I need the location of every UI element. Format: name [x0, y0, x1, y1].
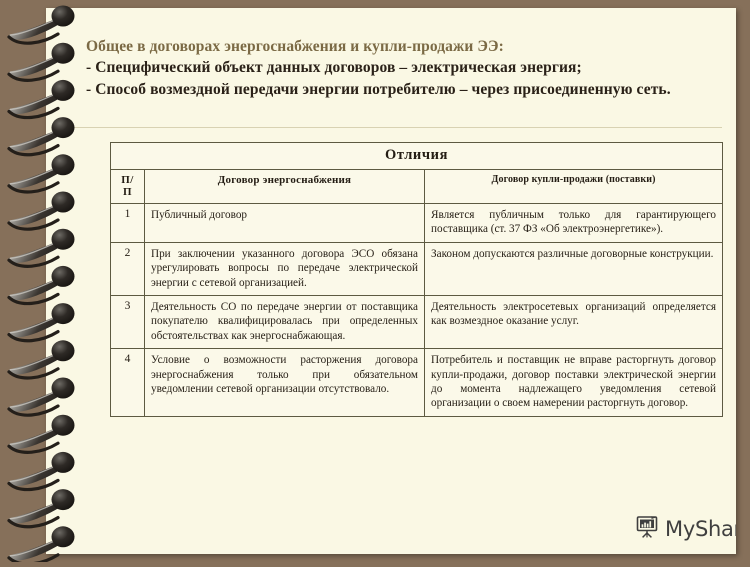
- cell-purchase-sale: Является публичным только для гарантирую…: [425, 204, 723, 243]
- row-number: 4: [111, 349, 145, 417]
- presentation-chart-icon: [634, 514, 660, 545]
- myshared-watermark: MyShared: [634, 514, 736, 545]
- slide-heading-block: Общее в договорах энергоснабжения и купл…: [86, 36, 701, 101]
- cell-purchase-sale: Деятельность электросетевых организаций …: [425, 296, 723, 349]
- cell-energy-supply: Публичный договор: [145, 204, 425, 243]
- column-header-energy-supply: Договор энергоснабжения: [145, 170, 425, 204]
- cell-energy-supply: При заключении указанного договора ЭСО о…: [145, 242, 425, 295]
- row-number: 1: [111, 204, 145, 243]
- table-header-row: П/П Договор энергоснабжения Договор купл…: [111, 170, 723, 204]
- slide-surface: Общее в договорах энергоснабжения и купл…: [46, 8, 736, 554]
- comparison-table-wrapper: Отличия П/П Договор энергоснабжения Дого…: [110, 142, 722, 417]
- table-row: 3 Деятельность СО по передаче энергии от…: [111, 296, 723, 349]
- table-row: 4 Условие о возможности расторжения дого…: [111, 349, 723, 417]
- row-number: 3: [111, 296, 145, 349]
- table-row: 1 Публичный договор Является публичным т…: [111, 204, 723, 243]
- cell-purchase-sale: Законом допускаются различные договорные…: [425, 242, 723, 295]
- heading-bullet-2: - Способ возмездной передачи энергии пот…: [86, 79, 701, 101]
- spiral-coil-shadow: [9, 555, 58, 562]
- column-header-purchase-sale: Договор купли-продажи (поставки): [425, 170, 723, 204]
- cell-purchase-sale: Потребитель и поставщик не вправе растор…: [425, 349, 723, 417]
- notebook-page: Общее в договорах энергоснабжения и купл…: [46, 8, 736, 554]
- heading-divider: [74, 127, 722, 128]
- heading-bullet-1: - Специфический объект данных договоров …: [86, 57, 701, 79]
- table-title: Отличия: [111, 143, 723, 170]
- column-header-number: П/П: [111, 170, 145, 204]
- myshared-logo-text: MyShared: [665, 519, 736, 540]
- row-number: 2: [111, 242, 145, 295]
- cell-energy-supply: Деятельность СО по передаче энергии от п…: [145, 296, 425, 349]
- cell-energy-supply: Условие о возможности расторжения догово…: [145, 349, 425, 417]
- table-title-row: Отличия: [111, 143, 723, 170]
- presentation-slide: Общее в договорах энергоснабжения и купл…: [0, 0, 750, 562]
- comparison-table: Отличия П/П Договор энергоснабжения Дого…: [110, 142, 723, 417]
- heading-title-line: Общее в договорах энергоснабжения и купл…: [86, 36, 701, 57]
- table-row: 2 При заключении указанного договора ЭСО…: [111, 242, 723, 295]
